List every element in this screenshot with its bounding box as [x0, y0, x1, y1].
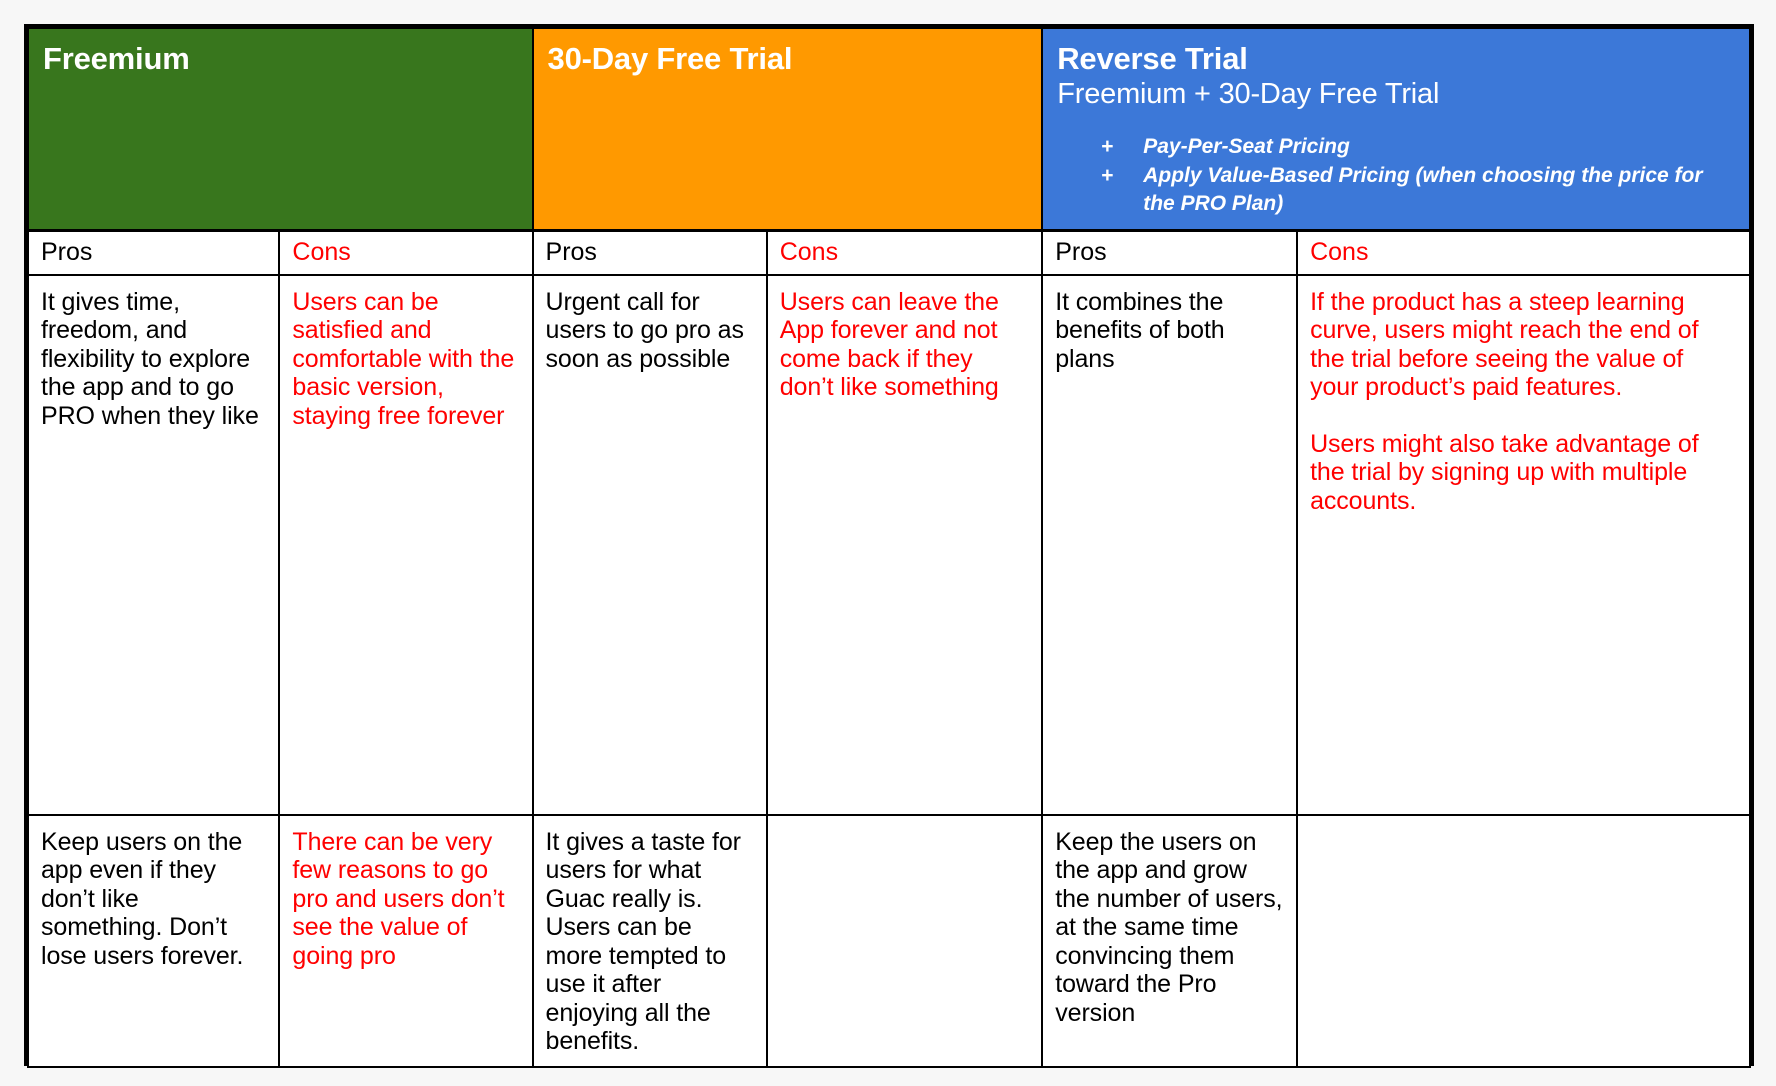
cell-text: Keep the users on the app and grow the n…	[1055, 828, 1284, 1028]
column-header-reverse-cons: Cons	[1297, 231, 1750, 275]
cell-text: If the product has a steep learning curv…	[1310, 288, 1737, 402]
cell-text: Urgent call for users to go pro as soon …	[546, 288, 754, 374]
cell-freemium-pros-main: It gives time, freedom, and flexibility …	[28, 275, 279, 815]
group-bullet-item: + Apply Value-Based Pricing (when choosi…	[1101, 162, 1735, 217]
cell-text: Keep users on the app even if they don’t…	[41, 828, 266, 971]
column-label-pros: Pros	[546, 239, 756, 267]
group-header-freemium: Freemium	[28, 28, 533, 231]
cell-reverse-cons-second	[1297, 815, 1750, 1067]
cell-text: Users can be satisfied and comfortable w…	[292, 288, 519, 431]
cell-text: It combines the benefits of both plans	[1055, 288, 1284, 374]
column-header-trial-cons: Cons	[767, 231, 1043, 275]
cell-freemium-pros-second: Keep users on the app even if they don’t…	[28, 815, 279, 1067]
pricing-comparison-table: Freemium 30-Day Free Trial Reverse Trial…	[24, 24, 1754, 1066]
table-row: It gives time, freedom, and flexibility …	[28, 275, 1750, 815]
group-bullet-label: Apply Value-Based Pricing (when choosing…	[1143, 162, 1735, 217]
cell-freemium-cons-main: Users can be satisfied and comfortable w…	[279, 275, 532, 815]
cell-trial-cons-second	[767, 815, 1043, 1067]
column-label-cons: Cons	[1310, 239, 1739, 267]
cell-text: It gives a taste for users for what Guac…	[546, 828, 754, 1056]
table-row: Keep users on the app even if they don’t…	[28, 815, 1750, 1067]
group-title-reverse-trial: Reverse Trial	[1057, 41, 1735, 77]
cell-freemium-cons-second: There can be very few reasons to go pro …	[279, 815, 532, 1067]
group-header-reverse-trial: Reverse Trial Freemium + 30-Day Free Tri…	[1042, 28, 1750, 231]
group-subtitle-reverse-trial: Freemium + 30-Day Free Trial	[1057, 77, 1735, 111]
cell-trial-cons-main: Users can leave the App forever and not …	[767, 275, 1043, 815]
column-header-freemium-cons: Cons	[279, 231, 532, 275]
column-header-reverse-pros: Pros	[1042, 231, 1297, 275]
cell-text: Users can leave the App forever and not …	[780, 288, 1030, 402]
slide-canvas: Freemium 30-Day Free Trial Reverse Trial…	[0, 0, 1776, 1086]
cell-text: It gives time, freedom, and flexibility …	[41, 288, 266, 431]
group-header-row: Freemium 30-Day Free Trial Reverse Trial…	[28, 28, 1750, 231]
cell-text: Users might also take advantage of the t…	[1310, 430, 1737, 516]
column-header-freemium-pros: Pros	[28, 231, 279, 275]
plus-icon: +	[1101, 162, 1143, 217]
column-header-trial-pros: Pros	[533, 231, 767, 275]
group-bullet-label: Pay-Per-Seat Pricing	[1143, 133, 1735, 160]
column-label-cons: Cons	[292, 239, 521, 267]
column-label-pros: Pros	[41, 239, 268, 267]
pros-cons-label-row: Pros Cons Pros Cons Pros Cons	[28, 231, 1750, 275]
group-bullet-item: + Pay-Per-Seat Pricing	[1101, 133, 1735, 160]
cell-reverse-cons-main: If the product has a steep learning curv…	[1297, 275, 1750, 815]
group-bullet-list-reverse-trial: + Pay-Per-Seat Pricing + Apply Value-Bas…	[1057, 133, 1735, 217]
group-title-30-day-free-trial: 30-Day Free Trial	[548, 41, 1028, 77]
cell-trial-pros-main: Urgent call for users to go pro as soon …	[533, 275, 767, 815]
cell-text: There can be very few reasons to go pro …	[292, 828, 519, 971]
comparison-matrix: Freemium 30-Day Free Trial Reverse Trial…	[27, 27, 1751, 1068]
cell-trial-pros-second: It gives a taste for users for what Guac…	[533, 815, 767, 1067]
group-title-freemium: Freemium	[43, 41, 518, 77]
group-header-30-day-free-trial: 30-Day Free Trial	[533, 28, 1043, 231]
column-label-pros: Pros	[1055, 239, 1286, 267]
plus-icon: +	[1101, 133, 1143, 160]
column-label-cons: Cons	[780, 239, 1032, 267]
cell-reverse-pros-second: Keep the users on the app and grow the n…	[1042, 815, 1297, 1067]
cell-reverse-pros-main: It combines the benefits of both plans	[1042, 275, 1297, 815]
